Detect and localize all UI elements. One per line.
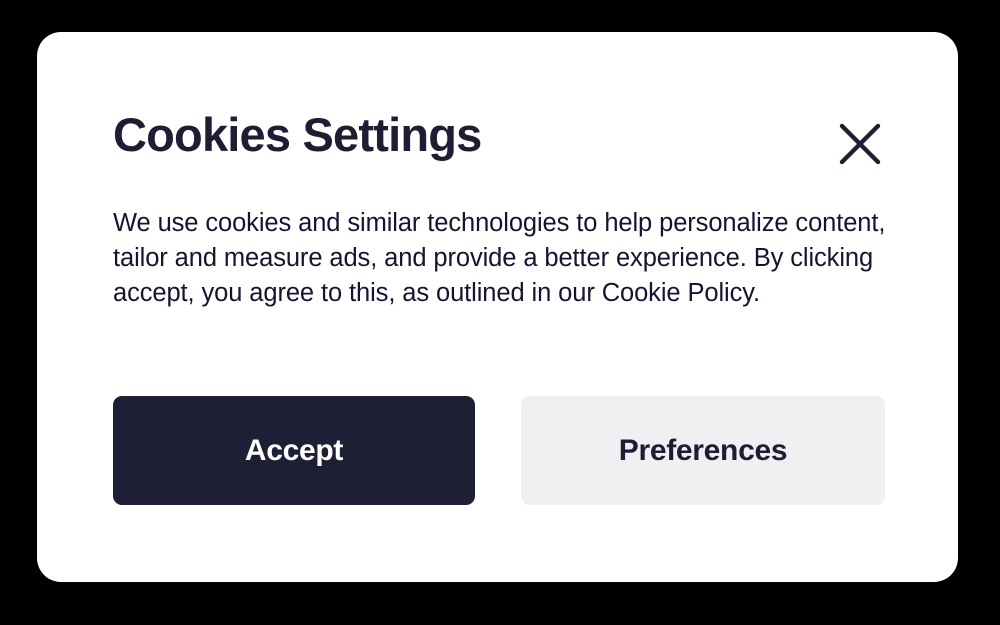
- accept-button[interactable]: Accept: [113, 396, 475, 505]
- close-button[interactable]: [835, 119, 885, 169]
- page-title: Cookies Settings: [113, 106, 482, 164]
- cookies-settings-dialog: Cookies Settings We use cookies and simi…: [37, 32, 958, 582]
- dialog-description: We use cookies and similar technologies …: [113, 206, 903, 311]
- dialog-actions: Accept Preferences: [113, 396, 923, 505]
- preferences-button[interactable]: Preferences: [521, 396, 885, 505]
- dialog-header: Cookies Settings: [113, 106, 922, 176]
- close-x-icon: [839, 123, 881, 165]
- page-background: Cookies Settings We use cookies and simi…: [0, 0, 1000, 625]
